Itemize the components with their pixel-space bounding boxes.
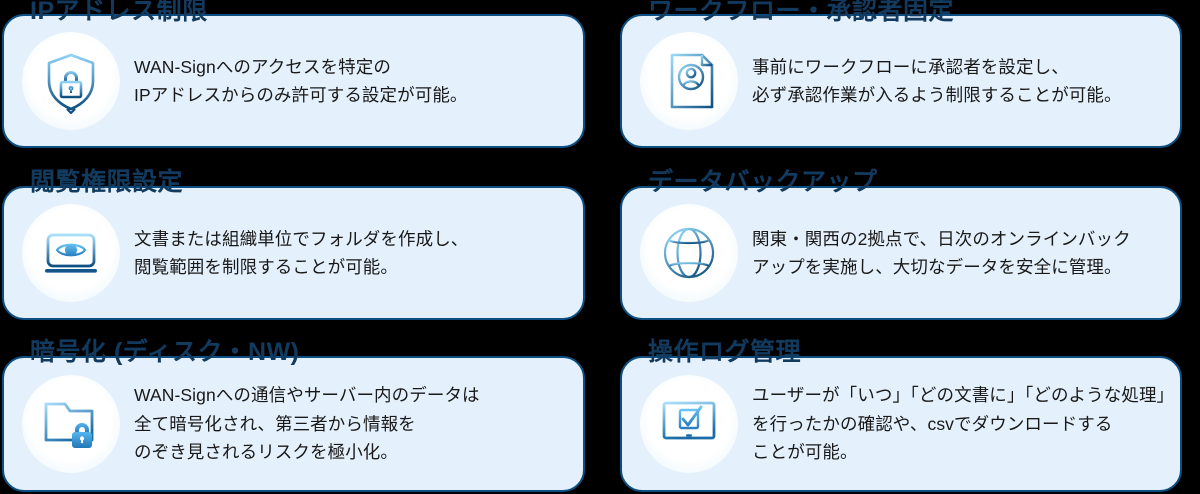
card-description: WAN-Signへのアクセスを特定の IPアドレスからのみ許可する設定が可能。 [120,53,583,110]
card-data-backup: 関東・関西の2拠点で、日次のオンラインバック アップを実施し、大切なデータを安全… [620,186,1182,320]
description-line: WAN-Signへのアクセスを特定の [134,53,569,81]
description-line: 関東・関西の2拠点で、日次のオンラインバック [752,225,1166,253]
description-line: ことが可能。 [752,438,1174,466]
description-line: アップを実施し、大切なデータを安全に管理。 [752,253,1166,281]
card-title-ip-address-restriction: IPアドレス制限 [30,0,208,24]
card-title-operation-log-management: 操作ログ管理 [648,340,801,365]
monitor-check-icon [640,375,738,473]
description-line: 文書または組織単位でフォルダを作成し、 [134,225,569,253]
description-line: 全て暗号化され、第三者から情報を [134,410,569,438]
card-description: ユーザーが「いつ」「どの文書に」「どのような処理」 を行ったかの確認や、csvで… [738,381,1188,466]
description-line: 必ず承認作業が入るよう制限することが可能。 [752,81,1166,109]
monitor-eye-icon [22,204,120,302]
description-line: 閲覧範囲を制限することが可能。 [134,253,569,281]
description-line: のぞき見されるリスクを極小化。 [134,438,569,466]
description-line: 事前にワークフローに承認者を設定し、 [752,53,1166,81]
card-ip-address-restriction: WAN-Signへのアクセスを特定の IPアドレスからのみ許可する設定が可能。 [2,14,585,148]
card-description: 文書または組織単位でフォルダを作成し、 閲覧範囲を制限することが可能。 [120,225,583,282]
card-title-data-backup: データバックアップ [648,170,878,195]
card-title-encryption-disk-nw: 暗号化 (ディスク・NW) [30,340,300,365]
card-encryption-disk-nw: WAN-Signへの通信やサーバー内のデータは 全て暗号化され、第三者から情報を… [2,356,585,492]
folder-lock-icon [22,375,120,473]
feature-card-grid: WAN-Signへのアクセスを特定の IPアドレスからのみ許可する設定が可能。 … [0,0,1200,494]
card-operation-log-management: ユーザーが「いつ」「どの文書に」「どのような処理」 を行ったかの確認や、csvで… [620,356,1182,492]
description-line: ユーザーが「いつ」「どの文書に」「どのような処理」 [752,381,1174,409]
description-line: WAN-Signへの通信やサーバー内のデータは [134,381,569,409]
card-description: 関東・関西の2拠点で、日次のオンラインバック アップを実施し、大切なデータを安全… [738,225,1180,282]
globe-icon [640,204,738,302]
card-view-permission-setting: 文書または組織単位でフォルダを作成し、 閲覧範囲を制限することが可能。 [2,186,585,320]
card-title-view-permission-setting: 閲覧権限設定 [30,170,183,195]
shield-lock-icon [22,32,120,130]
document-person-icon [640,32,738,130]
description-line: を行ったかの確認や、csvでダウンロードする [752,410,1174,438]
card-workflow-approver-fixed: 事前にワークフローに承認者を設定し、 必ず承認作業が入るよう制限することが可能。 [620,14,1182,148]
card-description: WAN-Signへの通信やサーバー内のデータは 全て暗号化され、第三者から情報を… [120,381,583,466]
description-line: IPアドレスからのみ許可する設定が可能。 [134,81,569,109]
card-title-workflow-approver-fixed: ワークフロー・承認者固定 [648,0,954,24]
card-description: 事前にワークフローに承認者を設定し、 必ず承認作業が入るよう制限することが可能。 [738,53,1180,110]
